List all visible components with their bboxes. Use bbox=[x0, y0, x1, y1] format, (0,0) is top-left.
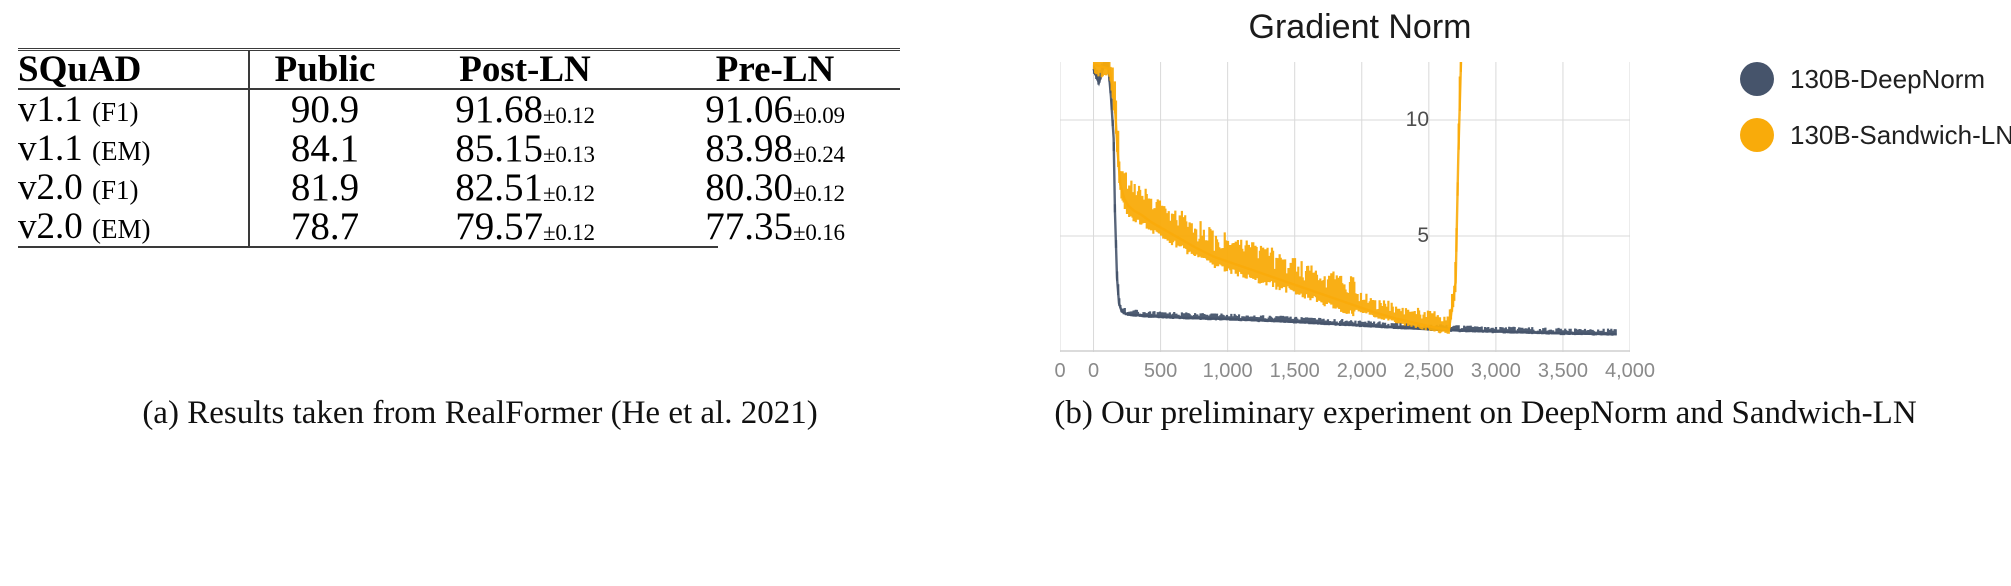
subfigure-b: Gradient Norm 510 005001,0001,5002,0002,… bbox=[960, 0, 2011, 586]
y-tick-label: 10 bbox=[1369, 108, 1429, 132]
cell-public: 81.9 bbox=[249, 168, 400, 207]
table-row: v2.0 (EM) 78.7 79.57±0.12 77.35±0.16 bbox=[18, 207, 900, 246]
error: ±0.12 bbox=[543, 181, 595, 206]
table-row: v1.1 (F1) 90.9 91.68±0.12 91.06±0.09 bbox=[18, 89, 900, 129]
table-body: v1.1 (F1) 90.9 91.68±0.12 91.06±0.09 v1.… bbox=[18, 89, 900, 246]
column-header-pre-ln: Pre-LN bbox=[650, 50, 900, 90]
x-tick-label: 4,000 bbox=[1590, 360, 1670, 383]
chart-legend: 130B-DeepNorm 130B-Sandwich-LN bbox=[1740, 62, 2005, 174]
cell-pre-ln: 80.30±0.12 bbox=[650, 168, 900, 207]
value: 79.57 bbox=[455, 205, 543, 248]
value: 80.30 bbox=[705, 166, 793, 209]
column-header-public: Public bbox=[249, 50, 400, 90]
error: ±0.09 bbox=[793, 103, 845, 128]
table-row: v1.1 (EM) 84.1 85.15±0.13 83.98±0.24 bbox=[18, 129, 900, 168]
error: ±0.24 bbox=[793, 142, 845, 167]
caption-b: (b) Our preliminary experiment on DeepNo… bbox=[960, 395, 2011, 432]
value: 83.98 bbox=[705, 127, 793, 170]
row-version: v2.0 bbox=[18, 206, 83, 247]
column-header-squad: SQuAD bbox=[18, 50, 249, 90]
plot-area bbox=[1060, 62, 1630, 352]
cell-public: 84.1 bbox=[249, 129, 400, 168]
squad-table-wrapper: SQuAD Public Post-LN Pre-LN v1.1 (F1) 90… bbox=[18, 48, 958, 358]
table-bottom-rule bbox=[18, 246, 718, 248]
table-head: SQuAD Public Post-LN Pre-LN bbox=[18, 50, 900, 90]
value: 91.68 bbox=[455, 88, 543, 131]
row-label-cell: v1.1 (F1) bbox=[18, 89, 249, 129]
table-header-row: SQuAD Public Post-LN Pre-LN bbox=[18, 50, 900, 90]
row-metric: (F1) bbox=[92, 175, 139, 205]
value: 85.15 bbox=[455, 127, 543, 170]
row-label-cell: v2.0 (EM) bbox=[18, 207, 249, 246]
row-label-cell: v1.1 (EM) bbox=[18, 129, 249, 168]
y-tick-label: 5 bbox=[1369, 224, 1429, 248]
legend-label: 130B-Sandwich-LN bbox=[1790, 120, 2011, 151]
row-metric: (EM) bbox=[92, 136, 150, 166]
column-header-post-ln: Post-LN bbox=[400, 50, 650, 90]
cell-public: 78.7 bbox=[249, 207, 400, 246]
row-version: v2.0 bbox=[18, 167, 83, 208]
figure-root: SQuAD Public Post-LN Pre-LN v1.1 (F1) 90… bbox=[0, 0, 2011, 586]
cell-pre-ln: 77.35±0.16 bbox=[650, 207, 900, 246]
value: 77.35 bbox=[705, 205, 793, 248]
cell-post-ln: 85.15±0.13 bbox=[400, 129, 650, 168]
legend-color-swatch-icon bbox=[1740, 118, 1774, 152]
error: ±0.13 bbox=[543, 142, 595, 167]
error: ±0.12 bbox=[543, 103, 595, 128]
value: 82.51 bbox=[455, 166, 543, 209]
table-row: v2.0 (F1) 81.9 82.51±0.12 80.30±0.12 bbox=[18, 168, 900, 207]
cell-post-ln: 79.57±0.12 bbox=[400, 207, 650, 246]
legend-item-sandwich-ln[interactable]: 130B-Sandwich-LN bbox=[1740, 118, 2005, 152]
caption-a: (a) Results taken from RealFormer (He et… bbox=[0, 395, 960, 432]
value: 91.06 bbox=[705, 88, 793, 131]
cell-public: 90.9 bbox=[249, 89, 400, 129]
cell-post-ln: 91.68±0.12 bbox=[400, 89, 650, 129]
row-metric: (F1) bbox=[92, 97, 139, 127]
chart-title: Gradient Norm bbox=[960, 8, 1760, 47]
legend-item-deepnorm[interactable]: 130B-DeepNorm bbox=[1740, 62, 2005, 96]
error: ±0.12 bbox=[793, 181, 845, 206]
error: ±0.16 bbox=[793, 220, 845, 245]
error: ±0.12 bbox=[543, 220, 595, 245]
cell-post-ln: 82.51±0.12 bbox=[400, 168, 650, 207]
gradient-norm-plot bbox=[1060, 62, 1630, 352]
row-version: v1.1 bbox=[18, 89, 83, 130]
row-metric: (EM) bbox=[92, 214, 150, 244]
squad-results-table: SQuAD Public Post-LN Pre-LN v1.1 (F1) 90… bbox=[18, 48, 900, 246]
subfigure-a: SQuAD Public Post-LN Pre-LN v1.1 (F1) 90… bbox=[0, 0, 960, 586]
cell-pre-ln: 91.06±0.09 bbox=[650, 89, 900, 129]
legend-color-swatch-icon bbox=[1740, 62, 1774, 96]
cell-pre-ln: 83.98±0.24 bbox=[650, 129, 900, 168]
row-label-cell: v2.0 (F1) bbox=[18, 168, 249, 207]
legend-label: 130B-DeepNorm bbox=[1790, 64, 1985, 95]
row-version: v1.1 bbox=[18, 128, 83, 169]
